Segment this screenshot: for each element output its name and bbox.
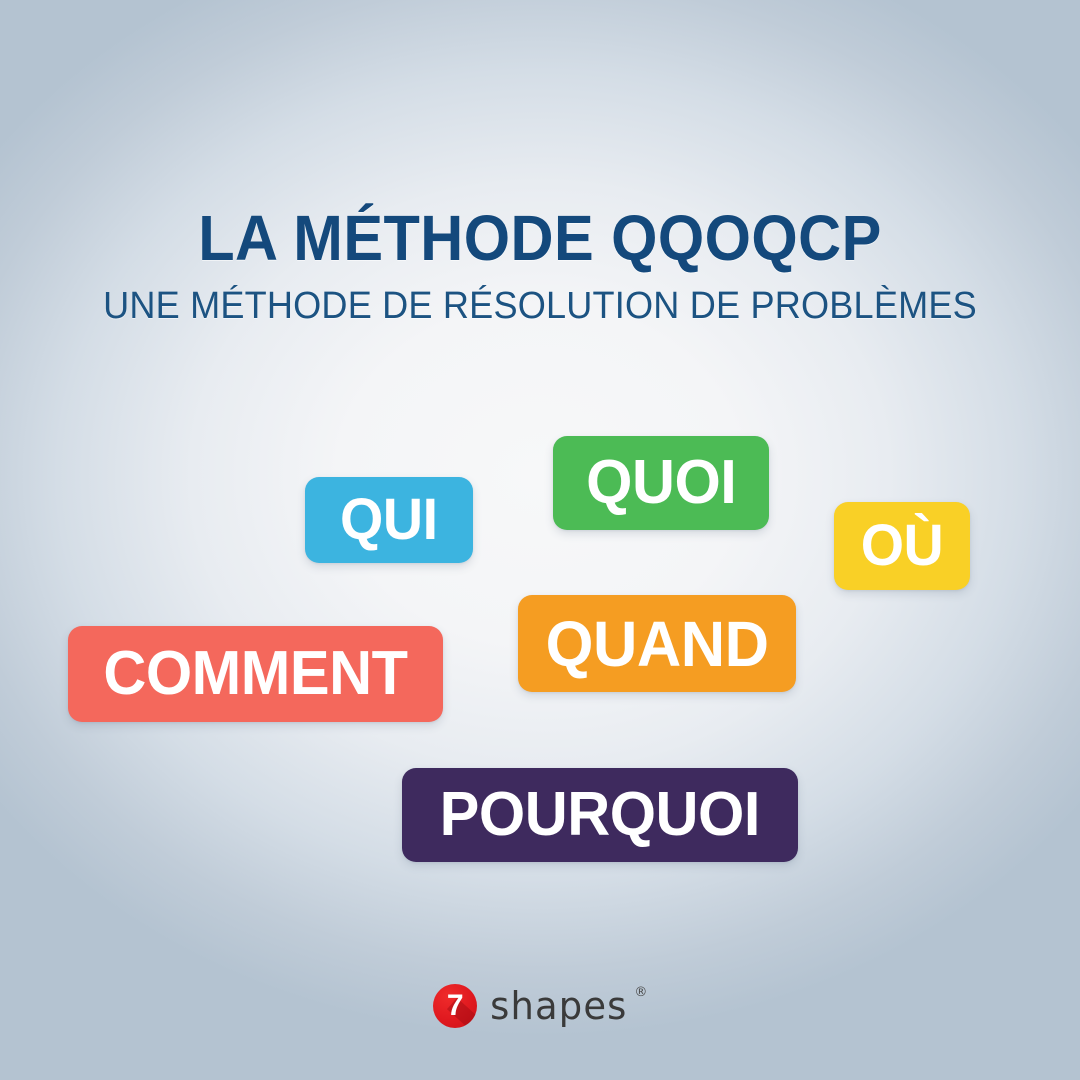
registered-trademark-icon: ® [634,986,647,999]
poster-canvas: LA MÉTHODE QQOQCP UNE MÉTHODE DE RÉSOLUT… [0,0,1080,1080]
page-subtitle: UNE MÉTHODE DE RÉSOLUTION DE PROBLÈMES [27,287,1053,327]
page-title: LA MÉTHODE QQOQCP [38,206,1042,271]
badge-pourquoi[interactable]: POURQUOI [402,768,798,862]
brand-wordmark: shapes [490,987,627,1025]
badge-label: QUOI [586,452,736,514]
brand-logo: 7 shapes ® [0,984,1080,1028]
badge-label: QUI [340,491,438,549]
badge-quoi[interactable]: QUOI [553,436,769,530]
badge-label: OÙ [861,517,944,575]
badge-label: POURQUOI [440,784,760,846]
seven-circle-icon: 7 [433,984,477,1028]
badge-quand[interactable]: QUAND [518,595,796,692]
heading-block: LA MÉTHODE QQOQCP UNE MÉTHODE DE RÉSOLUT… [0,206,1080,327]
badge-ou[interactable]: OÙ [834,502,970,590]
seven-digit: 7 [433,984,477,1028]
badge-label: QUAND [546,612,769,676]
badge-comment[interactable]: COMMENT [68,626,443,722]
badge-qui[interactable]: QUI [305,477,473,563]
badge-label: COMMENT [103,643,407,705]
